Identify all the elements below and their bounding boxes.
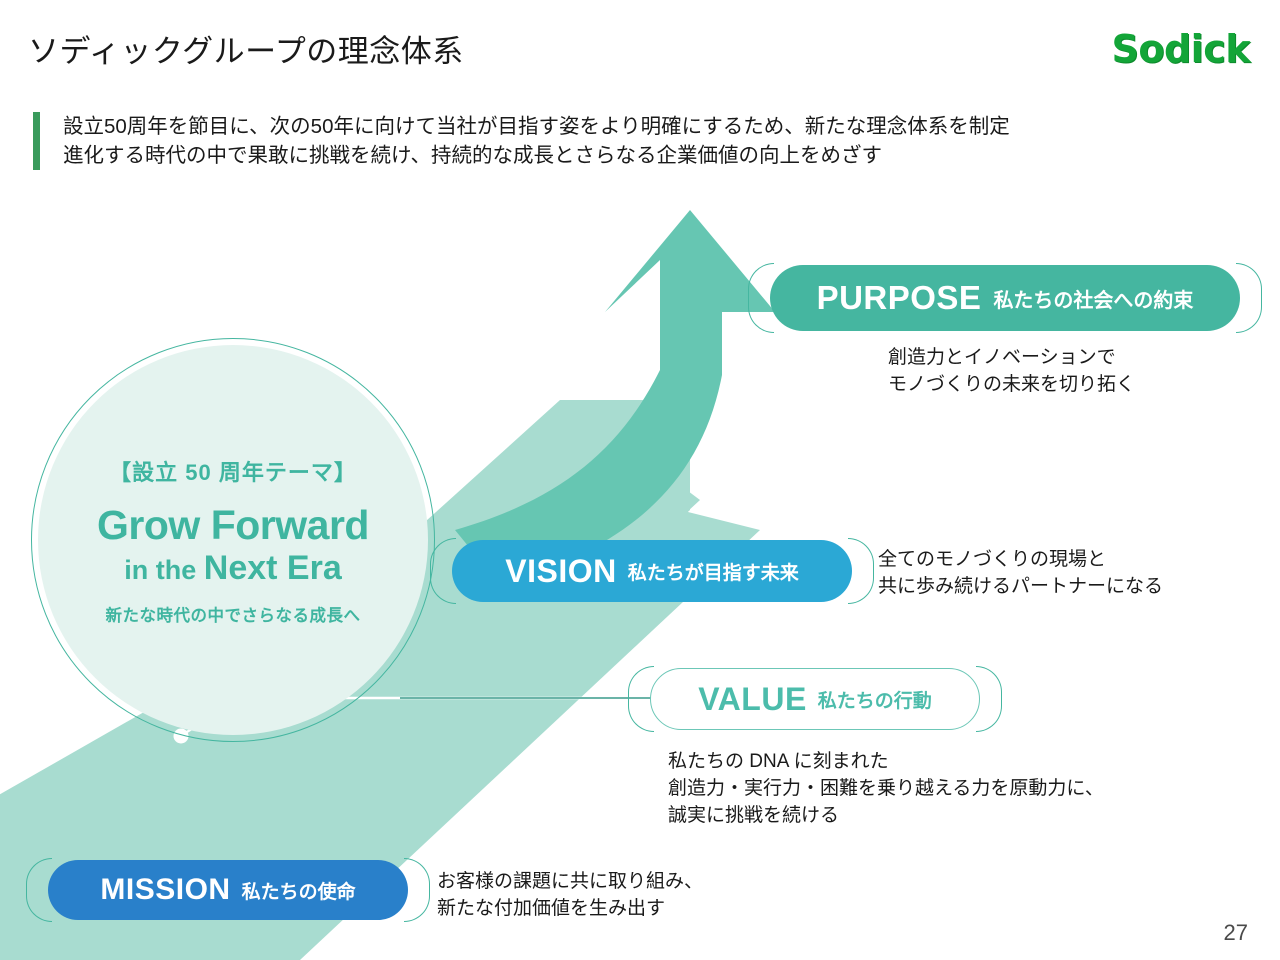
lead-line-2: 進化する時代の中で果敢に挑戦を続け、持続的な成長とさらなる企業価値の向上をめざす xyxy=(63,141,1223,170)
purpose-label: PURPOSE xyxy=(817,279,982,317)
pillar-mission[interactable]: MISSION 私たちの使命 xyxy=(48,860,408,920)
slide-root: ソディックグループの理念体系 Sodick 設立50周年を節目に、次の50年に向… xyxy=(0,0,1280,960)
theme-sub: in the Next Era xyxy=(124,549,341,588)
lead-line-1: 設立50周年を節目に、次の50年に向けて当社が目指す姿をより明確にするため、新た… xyxy=(63,112,1223,141)
pillar-purpose[interactable]: PURPOSE 私たちの社会への約束 xyxy=(770,265,1240,331)
purpose-sub: 私たちの社会への約束 xyxy=(993,284,1193,313)
theme-main: Grow Forward xyxy=(97,501,369,549)
purpose-desc-line-1: 創造力とイノベーションで xyxy=(888,344,1135,371)
value-sub: 私たちの行動 xyxy=(818,686,932,713)
purpose-desc-line-2: モノづくりの未来を切り拓く xyxy=(888,371,1135,398)
theme-sub-large: Next Era xyxy=(204,549,342,587)
theme-kicker: 【設立 50 周年テーマ】 xyxy=(109,455,357,487)
vision-sub: 私たちが目指す未来 xyxy=(628,558,799,585)
mission-label: MISSION xyxy=(100,873,230,907)
purpose-description: 創造力とイノベーションで モノづくりの未来を切り拓く xyxy=(888,344,1135,398)
pillar-value[interactable]: VALUE 私たちの行動 xyxy=(650,668,980,730)
page-number: 27 xyxy=(1224,920,1248,946)
vision-description: 全てのモノづくりの現場と 共に歩み続けるパートナーになる xyxy=(878,546,1163,600)
value-desc-line-1: 私たちの DNA に刻まれた xyxy=(668,748,1104,775)
value-description: 私たちの DNA に刻まれた 創造力・実行力・困難を乗り越える力を原動力に、 誠… xyxy=(668,748,1104,829)
theme-sub-small: in the xyxy=(124,555,204,585)
page-title: ソディックグループの理念体系 xyxy=(28,26,464,71)
vision-label: VISION xyxy=(505,553,616,590)
theme-circle: 【設立 50 周年テーマ】 Grow Forward in the Next E… xyxy=(38,345,428,735)
vision-desc-line-1: 全てのモノづくりの現場と xyxy=(878,546,1163,573)
mission-desc-line-1: お客様の課題に共に取り組み、 xyxy=(437,868,703,895)
vision-desc-line-2: 共に歩み続けるパートナーになる xyxy=(878,573,1163,600)
lead-block: 設立50周年を節目に、次の50年に向けて当社が目指す姿をより明確にするため、新た… xyxy=(33,112,1223,170)
value-desc-line-3: 誠実に挑戦を続ける xyxy=(668,802,1104,829)
value-label: VALUE xyxy=(698,681,807,718)
theme-tagline: 新たな時代の中でさらなる成長へ xyxy=(106,602,361,626)
sodick-logo: Sodick xyxy=(1112,27,1251,71)
mission-sub: 私たちの使命 xyxy=(242,877,356,904)
pillar-vision[interactable]: VISION 私たちが目指す未来 xyxy=(452,540,852,602)
mission-desc-line-2: 新たな付加価値を生み出す xyxy=(437,895,703,922)
value-desc-line-2: 創造力・実行力・困難を乗り越える力を原動力に、 xyxy=(668,775,1104,802)
mission-description: お客様の課題に共に取り組み、 新たな付加価値を生み出す xyxy=(437,868,703,922)
